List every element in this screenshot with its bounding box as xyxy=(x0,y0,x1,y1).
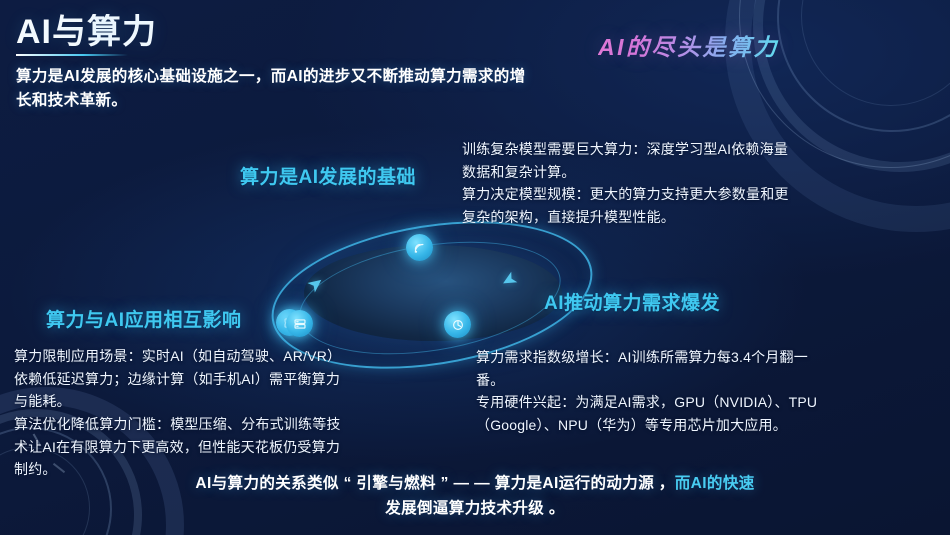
conclusion-text: AI与算力的关系类似 “ 引擎与燃料 ” — — 算力是AI运行的动力源 ，而A… xyxy=(60,472,890,522)
section-body-interaction: 算力限制应用场景：实时AI（如自动驾驶、AR/VR）依赖低延迟算力；边缘计算（如… xyxy=(14,345,344,481)
page-subtitle: 算力是AI发展的核心基础设施之一，而AI的进步又不断推动算力需求的增长和技术革新… xyxy=(16,65,536,113)
title-underline xyxy=(16,54,128,56)
section-body-demand: 算力需求指数级增长：AI训练所需算力每3.4个月翻一番。 专用硬件兴起：为满足A… xyxy=(476,346,821,437)
paragraph: 算力需求指数级增长：AI训练所需算力每3.4个月翻一番。 xyxy=(476,346,821,391)
paragraph: 专用硬件兴起：为满足AI需求，GPU（NVIDIA）、TPU（Google）、N… xyxy=(476,391,821,436)
conclusion-line2: 发展倒逼算力技术升级 。 xyxy=(385,500,565,517)
section-heading-interaction: 算力与AI应用相互影响 xyxy=(46,305,242,332)
conclusion-line1-part2: 而AI的快速 xyxy=(675,475,755,492)
paragraph: 训练复杂模型需要巨大算力：深度学习型AI依赖海量数据和复杂计算。 xyxy=(462,138,802,183)
slide-canvas: AI与算力 算力是AI发展的核心基础设施之一，而AI的进步又不断推动算力需求的增… xyxy=(0,0,950,535)
section-heading-foundation: 算力是AI发展的基础 xyxy=(240,162,416,189)
page-title: AI与算力 xyxy=(16,14,536,51)
conclusion-line1-part1: AI与算力的关系类似 “ 引擎与燃料 ” — — 算力是AI运行的动力源 ， xyxy=(195,475,674,492)
paragraph: 算法优化降低算力门槛：模型压缩、分布式训练等技术让AI在有限算力下更高效，但性能… xyxy=(14,413,344,481)
paragraph: 算力限制应用场景：实时AI（如自动驾驶、AR/VR）依赖低延迟算力；边缘计算（如… xyxy=(14,345,344,413)
satellite-icon xyxy=(406,234,433,261)
section-body-foundation: 训练复杂模型需要巨大算力：深度学习型AI依赖海量数据和复杂计算。 算力决定模型规… xyxy=(462,138,802,229)
chip-icon xyxy=(444,311,471,338)
server-icon xyxy=(286,310,313,337)
decorative-title: AI的尽头是算力 xyxy=(598,28,779,62)
headline-block: AI与算力 算力是AI发展的核心基础设施之一，而AI的进步又不断推动算力需求的增… xyxy=(16,14,536,113)
paragraph: 算力决定模型规模：更大的算力支持更大参数量和更复杂的架构，直接提升模型性能。 xyxy=(462,183,802,228)
section-heading-demand: AI推动算力需求爆发 xyxy=(544,288,720,315)
